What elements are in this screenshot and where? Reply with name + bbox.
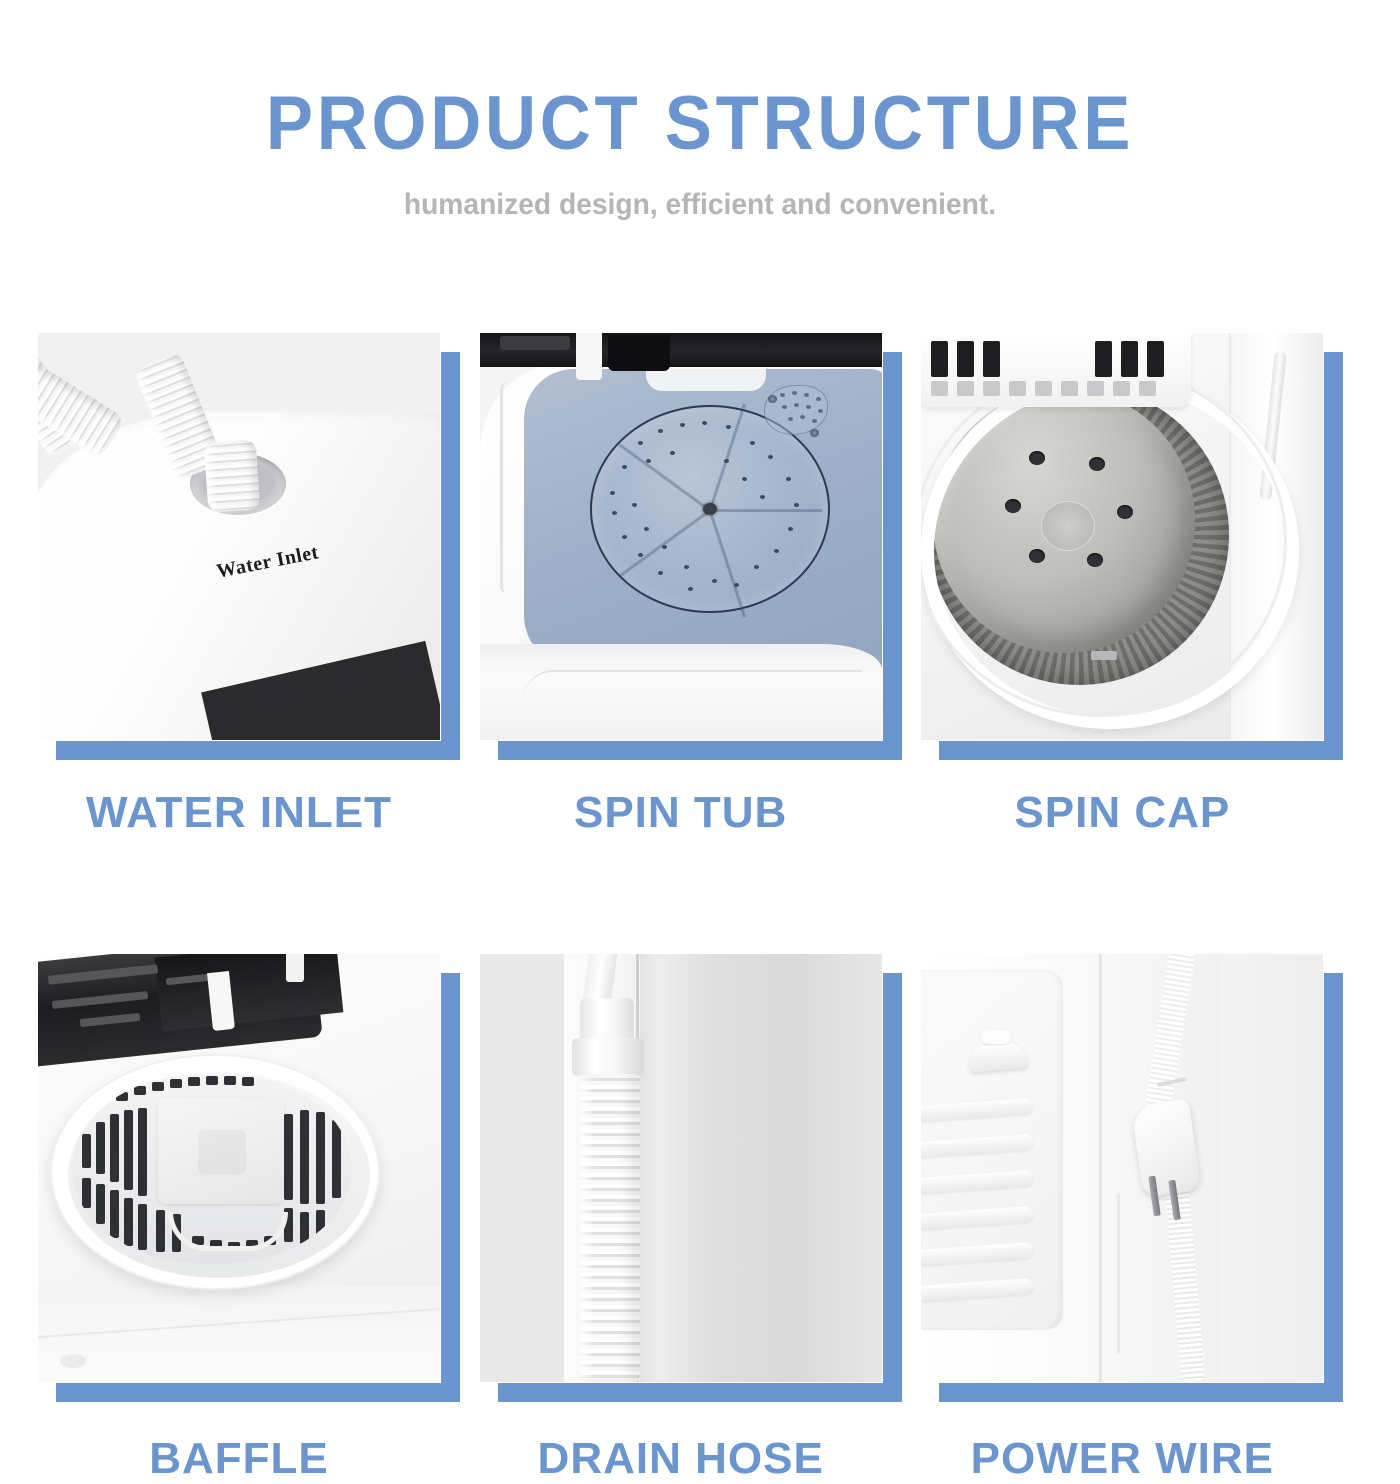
baffle-slot bbox=[96, 1184, 105, 1224]
pulsator-hole bbox=[754, 565, 759, 569]
pulsator-hole bbox=[684, 565, 689, 569]
photo-spin-tub bbox=[480, 333, 882, 740]
accent-bar-right bbox=[441, 352, 460, 760]
baffle-slot bbox=[116, 1092, 128, 1101]
pulsator-hole bbox=[622, 465, 627, 469]
accent-bar-bottom bbox=[498, 1383, 902, 1402]
pulsator-hole bbox=[612, 511, 617, 515]
accent-bar-bottom bbox=[56, 1383, 460, 1402]
baffle-slot bbox=[188, 1077, 200, 1086]
fill-hose-segment-d bbox=[204, 439, 261, 512]
baffle-slot bbox=[82, 1178, 91, 1208]
baffle-slot bbox=[284, 1114, 293, 1200]
accent-bar-bottom bbox=[939, 1383, 1343, 1402]
baffle-slot bbox=[170, 1079, 182, 1088]
lid-slot-small bbox=[1113, 381, 1130, 396]
pulsator-vane bbox=[618, 509, 710, 577]
baffle-slot bbox=[206, 1076, 218, 1085]
baffle-slot bbox=[332, 1120, 341, 1198]
panel-seam-lower bbox=[1117, 1194, 1120, 1354]
pulsator-hole bbox=[658, 429, 663, 433]
pulsator-hole bbox=[760, 495, 765, 499]
pulsator-vane bbox=[710, 509, 822, 512]
pulsator-hole bbox=[610, 491, 615, 495]
cord-hook-top bbox=[981, 1030, 1011, 1044]
pulsator-hole bbox=[644, 527, 649, 531]
tub-lower-crease bbox=[522, 670, 862, 702]
pulsator-vane bbox=[618, 443, 710, 511]
caption-water-inlet: WATER INLET bbox=[38, 788, 440, 838]
caption-spin-tub: SPIN TUB bbox=[480, 788, 882, 838]
basin-ledge bbox=[646, 369, 766, 391]
feature-grid: Water Inlet WATER INLET bbox=[38, 333, 1362, 1484]
panel-seam bbox=[1099, 954, 1102, 1382]
slotted-lid bbox=[921, 333, 1191, 407]
feature-row-top: Water Inlet WATER INLET bbox=[38, 333, 1362, 838]
photo-frame-water-inlet: Water Inlet bbox=[38, 333, 440, 740]
accent-bar-right bbox=[1324, 973, 1343, 1402]
lid-tab bbox=[576, 333, 602, 380]
pulsator-vane bbox=[708, 404, 745, 511]
filter-hole bbox=[812, 419, 817, 423]
lid-slot-small bbox=[931, 381, 948, 396]
page-title: PRODUCT STRUCTURE bbox=[49, 86, 1351, 162]
lid-slot-small bbox=[983, 381, 1000, 396]
filter-screw bbox=[810, 429, 819, 437]
filter-hole bbox=[818, 409, 823, 413]
feature-cell-drain-hose[interactable]: DRAIN HOSE bbox=[480, 954, 921, 1484]
accent-bar-bottom bbox=[939, 741, 1343, 760]
baffle-slot bbox=[152, 1082, 164, 1091]
lid-slot bbox=[931, 341, 948, 377]
pulsator-hole bbox=[734, 583, 739, 587]
pulsator-hole bbox=[680, 423, 685, 427]
filter-hole bbox=[800, 415, 805, 419]
lid-slot-small bbox=[1009, 381, 1026, 396]
accent-bar-right bbox=[883, 973, 902, 1402]
photo-frame-spin-tub bbox=[480, 333, 882, 740]
page-header: PRODUCT STRUCTURE humanized design, effi… bbox=[0, 0, 1400, 222]
baffle-slot bbox=[224, 1076, 236, 1085]
drain-hose-collar bbox=[572, 1038, 644, 1076]
lid-slot bbox=[1147, 341, 1164, 377]
pulsator-hole bbox=[712, 579, 717, 583]
pulsator-hole bbox=[768, 455, 773, 459]
caption-baffle: BAFFLE bbox=[38, 1434, 440, 1484]
photo-frame-drain-hose bbox=[480, 954, 882, 1382]
feature-cell-baffle[interactable]: BAFFLE bbox=[38, 954, 479, 1484]
photo-drain-hose bbox=[480, 954, 882, 1382]
panel-shadow bbox=[640, 954, 660, 1382]
background-right bbox=[1219, 954, 1323, 1382]
pulsator-disc bbox=[590, 405, 830, 613]
pulsator-hub bbox=[703, 503, 717, 515]
spin-cap-dome bbox=[933, 389, 1195, 653]
lid-slot bbox=[1095, 341, 1112, 377]
baffle-slot bbox=[242, 1077, 254, 1086]
accent-bar-bottom bbox=[498, 741, 902, 760]
caption-drain-hose: DRAIN HOSE bbox=[480, 1434, 882, 1484]
lid-hinge-tab-right bbox=[286, 954, 304, 982]
baffle-grid-cover bbox=[72, 1074, 352, 1264]
filter-hole bbox=[806, 405, 811, 409]
drain-hose-connector bbox=[580, 998, 634, 1042]
pulsator-hole bbox=[646, 459, 651, 463]
machine-lower-body bbox=[38, 1286, 440, 1382]
baffle-slot bbox=[138, 1204, 147, 1250]
drain-hose-corrugated bbox=[580, 1074, 640, 1382]
filter-hole bbox=[792, 391, 797, 395]
baffle-slot bbox=[110, 1190, 119, 1238]
photo-spin-cap bbox=[921, 333, 1323, 740]
photo-frame-power-wire bbox=[921, 954, 1323, 1382]
filter-hole bbox=[788, 417, 793, 421]
feature-cell-power-wire[interactable]: POWER WIRE bbox=[921, 954, 1362, 1484]
photo-water-inlet: Water Inlet bbox=[38, 333, 440, 740]
photo-baffle bbox=[38, 954, 440, 1382]
pulsator-hole bbox=[786, 477, 791, 481]
pulsator-hole bbox=[788, 527, 793, 531]
lid-gap bbox=[500, 336, 570, 350]
pulsator-hole bbox=[774, 549, 779, 553]
pulsator-hole bbox=[794, 503, 799, 507]
baffle-slot bbox=[300, 1212, 309, 1244]
tub-rim-crease bbox=[500, 383, 513, 593]
page-subtitle: humanized design, efficient and convenie… bbox=[42, 188, 1358, 222]
lid-slot-small bbox=[1087, 381, 1104, 396]
pulsator-hole bbox=[662, 545, 667, 549]
lid-slot bbox=[1121, 341, 1138, 377]
lid-slot-small bbox=[1061, 381, 1078, 396]
baffle-slot bbox=[82, 1134, 91, 1168]
lid-notch bbox=[608, 335, 670, 371]
photo-frame-baffle bbox=[38, 954, 440, 1382]
filter-hole bbox=[804, 393, 809, 397]
pulsator-hole bbox=[742, 477, 747, 481]
pulsator-hole bbox=[688, 587, 693, 591]
filter-screw bbox=[768, 395, 777, 403]
pulsator-hole bbox=[670, 451, 675, 455]
baffle-slot bbox=[110, 1114, 119, 1182]
lid-slot-small bbox=[957, 381, 974, 396]
baffle-slot bbox=[316, 1210, 325, 1238]
pulsator-hole bbox=[750, 441, 755, 445]
pulsator-hole bbox=[702, 421, 707, 425]
lid-slot bbox=[957, 341, 974, 377]
baffle-emblem bbox=[198, 1130, 246, 1174]
baffle-slot bbox=[124, 1110, 133, 1190]
baffle-slot bbox=[96, 1122, 105, 1174]
photo-frame-spin-cap bbox=[921, 333, 1323, 740]
lid-slot-small bbox=[1035, 381, 1052, 396]
background-left bbox=[480, 954, 564, 1382]
accent-bar-right bbox=[441, 973, 460, 1402]
lid-slot bbox=[983, 341, 1000, 377]
baffle-handle bbox=[168, 1212, 288, 1251]
baffle-slot bbox=[134, 1086, 146, 1095]
feature-cell-spin-tub[interactable]: SPIN TUB bbox=[480, 333, 921, 838]
filter-hole bbox=[794, 403, 799, 407]
pulsator-hole bbox=[658, 571, 663, 575]
accent-bar-right bbox=[883, 352, 902, 760]
feature-cell-water-inlet[interactable]: Water Inlet WATER INLET bbox=[38, 333, 479, 838]
feature-row-bottom: BAFFLE DRAIN HOSE bbox=[38, 954, 1362, 1484]
photo-power-wire bbox=[921, 954, 1323, 1382]
baffle-slot bbox=[316, 1112, 325, 1204]
machine-foot bbox=[60, 1354, 86, 1368]
filter-hole bbox=[782, 405, 787, 409]
pulsator-hole bbox=[724, 459, 729, 463]
filter-hole bbox=[780, 393, 785, 397]
caption-power-wire: POWER WIRE bbox=[921, 1434, 1323, 1484]
pulsator-hole bbox=[726, 425, 731, 429]
spin-cap-center bbox=[1041, 501, 1095, 551]
pulsator-hole bbox=[622, 535, 627, 539]
caption-spin-cap: SPIN CAP bbox=[921, 788, 1323, 838]
baffle-slot bbox=[300, 1110, 309, 1204]
baffle-slot bbox=[138, 1108, 147, 1196]
lid-slot-small bbox=[1139, 381, 1156, 396]
accent-bar-right bbox=[1324, 352, 1343, 760]
pulsator-hole bbox=[638, 553, 643, 557]
filter-hole bbox=[816, 397, 821, 401]
tub-lip-marker bbox=[1091, 651, 1117, 660]
pulsator-hole bbox=[632, 503, 637, 507]
accent-bar-bottom bbox=[56, 741, 460, 760]
baffle-slot bbox=[156, 1210, 165, 1252]
pulsator-hole bbox=[638, 441, 643, 445]
pulsator-vane bbox=[708, 510, 745, 617]
baffle-slot bbox=[124, 1198, 133, 1246]
feature-cell-spin-cap[interactable]: SPIN CAP bbox=[921, 333, 1362, 838]
